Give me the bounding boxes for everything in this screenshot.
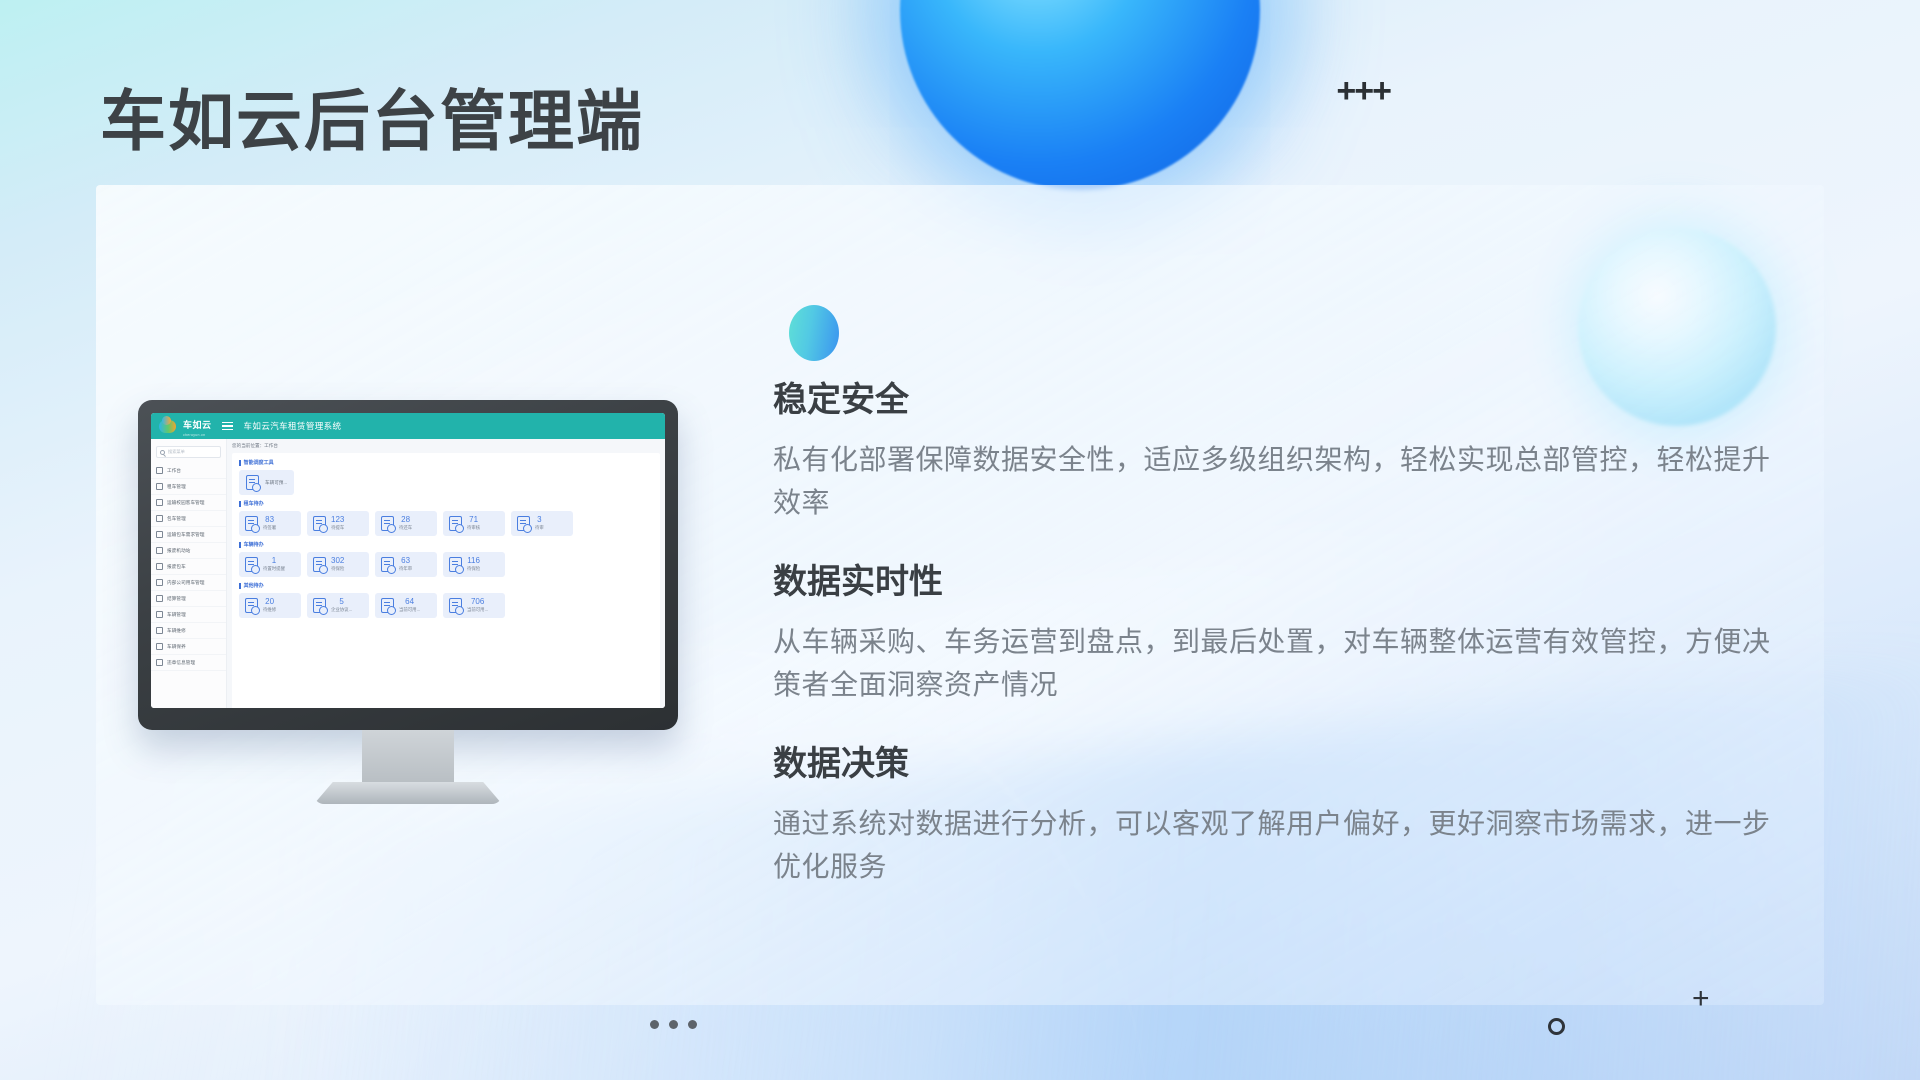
sidebar-item-label: 结算管理 (167, 596, 186, 602)
stat-value: 123 (331, 516, 344, 524)
sidebar-item-scrap-charter[interactable]: 报废包车 (151, 559, 226, 575)
tool-card-row: 车辆可预... (239, 470, 653, 495)
stat-card[interactable]: 28 待还车 (375, 511, 437, 536)
tool-card-label: 车辆可预... (265, 480, 287, 486)
stat-value: 83 (265, 516, 274, 524)
circle-outline-decoration (1548, 1018, 1565, 1035)
stat-card[interactable]: 63 待年审 (375, 552, 437, 577)
hamburger-menu-icon[interactable] (222, 422, 233, 431)
sidebar-search-placeholder: 搜索菜单 (168, 449, 185, 455)
stat-value: 20 (265, 598, 274, 606)
sidebar-item-label: 租车管理 (167, 484, 186, 490)
sidebar-item-campus-bus[interactable]: 运输校园客车管理 (151, 495, 226, 511)
feature-heading: 数据实时性 (773, 554, 943, 607)
sidebar-item-internal-vehicle[interactable]: 内部公司用车管理 (151, 575, 226, 591)
app-title: 车如云汽车租赁管理系统 (244, 420, 342, 432)
plus-small-decoration: + (1692, 984, 1710, 1014)
sidebar-item-label: 运输校园客车管理 (167, 500, 205, 506)
stat-label: 待维修 (263, 607, 276, 613)
stat-card[interactable]: 83 待签署 (239, 511, 301, 536)
agreement-icon (313, 598, 326, 613)
stat-value: 71 (469, 516, 478, 524)
stat-card[interactable]: 1 待置时提醒 (239, 552, 301, 577)
available-icon (381, 598, 394, 613)
search-icon (160, 450, 165, 455)
stat-card-row-rental: 83 待签署 123 待提车 (239, 511, 653, 536)
sidebar-item-label: 工作台 (167, 468, 181, 474)
stat-label: 企业协议... (331, 607, 352, 613)
feature-body: 通过系统对数据进行分析，可以客观了解用户偏好，更好洞察市场需求，进一步优化服务 (773, 803, 1773, 888)
sidebar-item-settlement[interactable]: 结算管理 (151, 591, 226, 607)
stat-label: 待还车 (399, 525, 412, 531)
feature-heading: 稳定安全 (773, 372, 909, 425)
app-header-bar: 车如云 cheruyun.cn 车如云汽车租赁管理系统 (151, 413, 665, 439)
app-sidebar: 搜索菜单 工作台 租车管理 运输校园客车管理 (151, 439, 227, 708)
sidebar-item-charter[interactable]: 包车管理 (151, 511, 226, 527)
stat-value: 1 (272, 557, 276, 565)
stat-card[interactable]: 116 待保险 (443, 552, 505, 577)
vehicle-icon (156, 611, 163, 618)
cloud-logo-icon (159, 420, 176, 433)
campus-bus-icon (156, 499, 163, 506)
feature-heading: 数据决策 (773, 736, 909, 789)
stat-label: 当前可用... (399, 607, 420, 613)
feature-heading-text: 稳定安全 (773, 381, 909, 419)
sidebar-item-label: 报废机动站 (167, 548, 190, 554)
stat-card[interactable]: 64 当前可用... (375, 593, 437, 618)
sidebar-item-scrap-station[interactable]: 报废机动站 (151, 543, 226, 559)
monitor-stand-base (314, 782, 502, 804)
scrap-station-icon (156, 547, 163, 554)
stat-value: 28 (401, 516, 410, 524)
sidebar-item-label: 车辆保养 (167, 644, 186, 650)
section-title-other-todo: 其他待办 (239, 582, 653, 589)
sidebar-item-label: 车辆管理 (167, 612, 186, 618)
tool-card[interactable]: 车辆可预... (239, 470, 294, 495)
maintenance-icon (156, 643, 163, 650)
stat-value: 63 (401, 557, 410, 565)
stat-card-row-other: 20 待维修 5 企业协议... (239, 593, 653, 618)
feature-heading-text: 数据实时性 (773, 563, 943, 601)
page-title: 车如云后台管理端 (100, 68, 644, 164)
stat-label: 待年审 (399, 566, 412, 572)
sidebar-item-workbench[interactable]: 工作台 (151, 463, 226, 479)
stat-card[interactable]: 71 待审核 (443, 511, 505, 536)
pickup-icon (313, 516, 326, 531)
stat-label: 待审 (535, 525, 544, 531)
feature-body: 从车辆采购、车务运营到盘点，到最后处置，对车辆整体运营有效管控，方便决策者全面洞… (773, 621, 1773, 706)
app-window: 车如云 cheruyun.cn 车如云汽车租赁管理系统 搜索菜单 (151, 413, 665, 708)
bullet-pill-icon (789, 305, 839, 361)
sidebar-item-label: 包车管理 (167, 516, 186, 522)
monitor-stand-neck (362, 730, 454, 782)
annual-check-icon (381, 557, 394, 572)
monitor-bezel: 车如云 cheruyun.cn 车如云汽车租赁管理系统 搜索菜单 (138, 400, 678, 730)
stat-label: 待保险 (467, 566, 480, 572)
internal-vehicle-icon (156, 579, 163, 586)
sidebar-search-input[interactable]: 搜索菜单 (156, 446, 221, 458)
plus-cluster-decoration: +++ (1336, 72, 1390, 111)
sidebar-item-repair[interactable]: 车辆维修 (151, 623, 226, 639)
monitor-mockup: 车如云 cheruyun.cn 车如云汽车租赁管理系统 搜索菜单 (138, 400, 678, 730)
workbench-panel: 智能调度工具 车辆可预... 租车待办 (232, 453, 660, 708)
app-main-content: 您的当前位置：工作台 智能调度工具 车辆可预... (227, 439, 665, 708)
app-logo-text-wrap: 车如云 cheruyun.cn (183, 415, 212, 437)
stat-value: 5 (339, 598, 343, 606)
stat-card[interactable]: 3 待审 (511, 511, 573, 536)
reminder-icon (245, 557, 258, 572)
audit-icon (517, 516, 530, 531)
repair-icon (156, 627, 163, 634)
stat-card[interactable]: 5 企业协议... (307, 593, 369, 618)
stat-label: 当前可用... (467, 607, 488, 613)
feature-body: 私有化部署保障数据安全性，适应多级组织架构，轻松实现总部管控，轻松提升效率 (773, 439, 1773, 524)
sidebar-item-label: 违章信息管理 (167, 660, 195, 666)
sidebar-item-label: 内部公司用车管理 (167, 580, 205, 586)
section-title-smart-dispatch: 智能调度工具 (239, 459, 653, 466)
stat-value: 3 (537, 516, 541, 524)
return-icon (381, 516, 394, 531)
stat-card[interactable]: 123 待提车 (307, 511, 369, 536)
feature-heading-text: 数据决策 (773, 745, 909, 783)
bottom-dots-decoration (650, 1020, 697, 1029)
monitor-screen: 车如云 cheruyun.cn 车如云汽车租赁管理系统 搜索菜单 (151, 413, 665, 708)
stat-card[interactable]: 302 待保险 (307, 552, 369, 577)
sidebar-item-vehicle[interactable]: 车辆管理 (151, 607, 226, 623)
stat-card-row-vehicle: 1 待置时提醒 302 待保险 (239, 552, 653, 577)
stat-label: 待审核 (467, 525, 480, 531)
repair-todo-icon (245, 598, 258, 613)
stat-label: 待置时提醒 (263, 566, 285, 572)
stat-label: 待保险 (331, 566, 344, 572)
review-icon (449, 516, 462, 531)
sidebar-item-label: 报废包车 (167, 564, 186, 570)
signature-icon (245, 516, 258, 531)
app-body: 搜索菜单 工作台 租车管理 运输校园客车管理 (151, 439, 665, 708)
sidebar-item-rental[interactable]: 租车管理 (151, 479, 226, 495)
section-title-rental-todo: 租车待办 (239, 500, 653, 507)
insurance-icon (313, 557, 326, 572)
settlement-icon (156, 595, 163, 602)
stat-label: 待提车 (331, 525, 344, 531)
sidebar-item-violation[interactable]: 违章信息管理 (151, 655, 226, 671)
stat-value: 116 (467, 557, 480, 565)
scrap-charter-icon (156, 563, 163, 570)
sidebar-item-label: 车辆维修 (167, 628, 186, 634)
sidebar-item-label: 运输包车需求管理 (167, 532, 205, 538)
breadcrumb: 您的当前位置：工作台 (232, 443, 660, 449)
workbench-icon (156, 467, 163, 474)
violation-icon (156, 659, 163, 666)
stat-card[interactable]: 20 待维修 (239, 593, 301, 618)
stat-value: 64 (405, 598, 414, 606)
feature-item-decision: 数据决策 通过系统对数据进行分析，可以客观了解用户偏好，更好洞察市场需求，进一步… (773, 736, 1793, 888)
app-logo-text: 车如云 (183, 420, 212, 430)
stat-value: 706 (471, 598, 484, 606)
stat-value: 302 (331, 557, 344, 565)
feature-list: 稳定安全 私有化部署保障数据安全性，适应多级组织架构，轻松实现总部管控，轻松提升… (773, 372, 1793, 888)
stat-card[interactable]: 706 当前可用... (443, 593, 505, 618)
charter-demand-icon (156, 531, 163, 538)
feature-item-stability: 稳定安全 私有化部署保障数据安全性，适应多级组织架构，轻松实现总部管控，轻松提升… (773, 372, 1793, 524)
section-title-vehicle-todo: 车辆待办 (239, 541, 653, 548)
available-total-icon (449, 598, 462, 613)
vehicle-booking-icon (246, 475, 259, 490)
charter-icon (156, 515, 163, 522)
app-logo-subtext: cheruyun.cn (183, 433, 212, 437)
insurance-renew-icon (449, 557, 462, 572)
rental-icon (156, 483, 163, 490)
feature-item-realtime: 数据实时性 从车辆采购、车务运营到盘点，到最后处置，对车辆整体运营有效管控，方便… (773, 554, 1793, 706)
sidebar-item-charter-demand[interactable]: 运输包车需求管理 (151, 527, 226, 543)
sidebar-item-maintenance[interactable]: 车辆保养 (151, 639, 226, 655)
stat-label: 待签署 (263, 525, 276, 531)
